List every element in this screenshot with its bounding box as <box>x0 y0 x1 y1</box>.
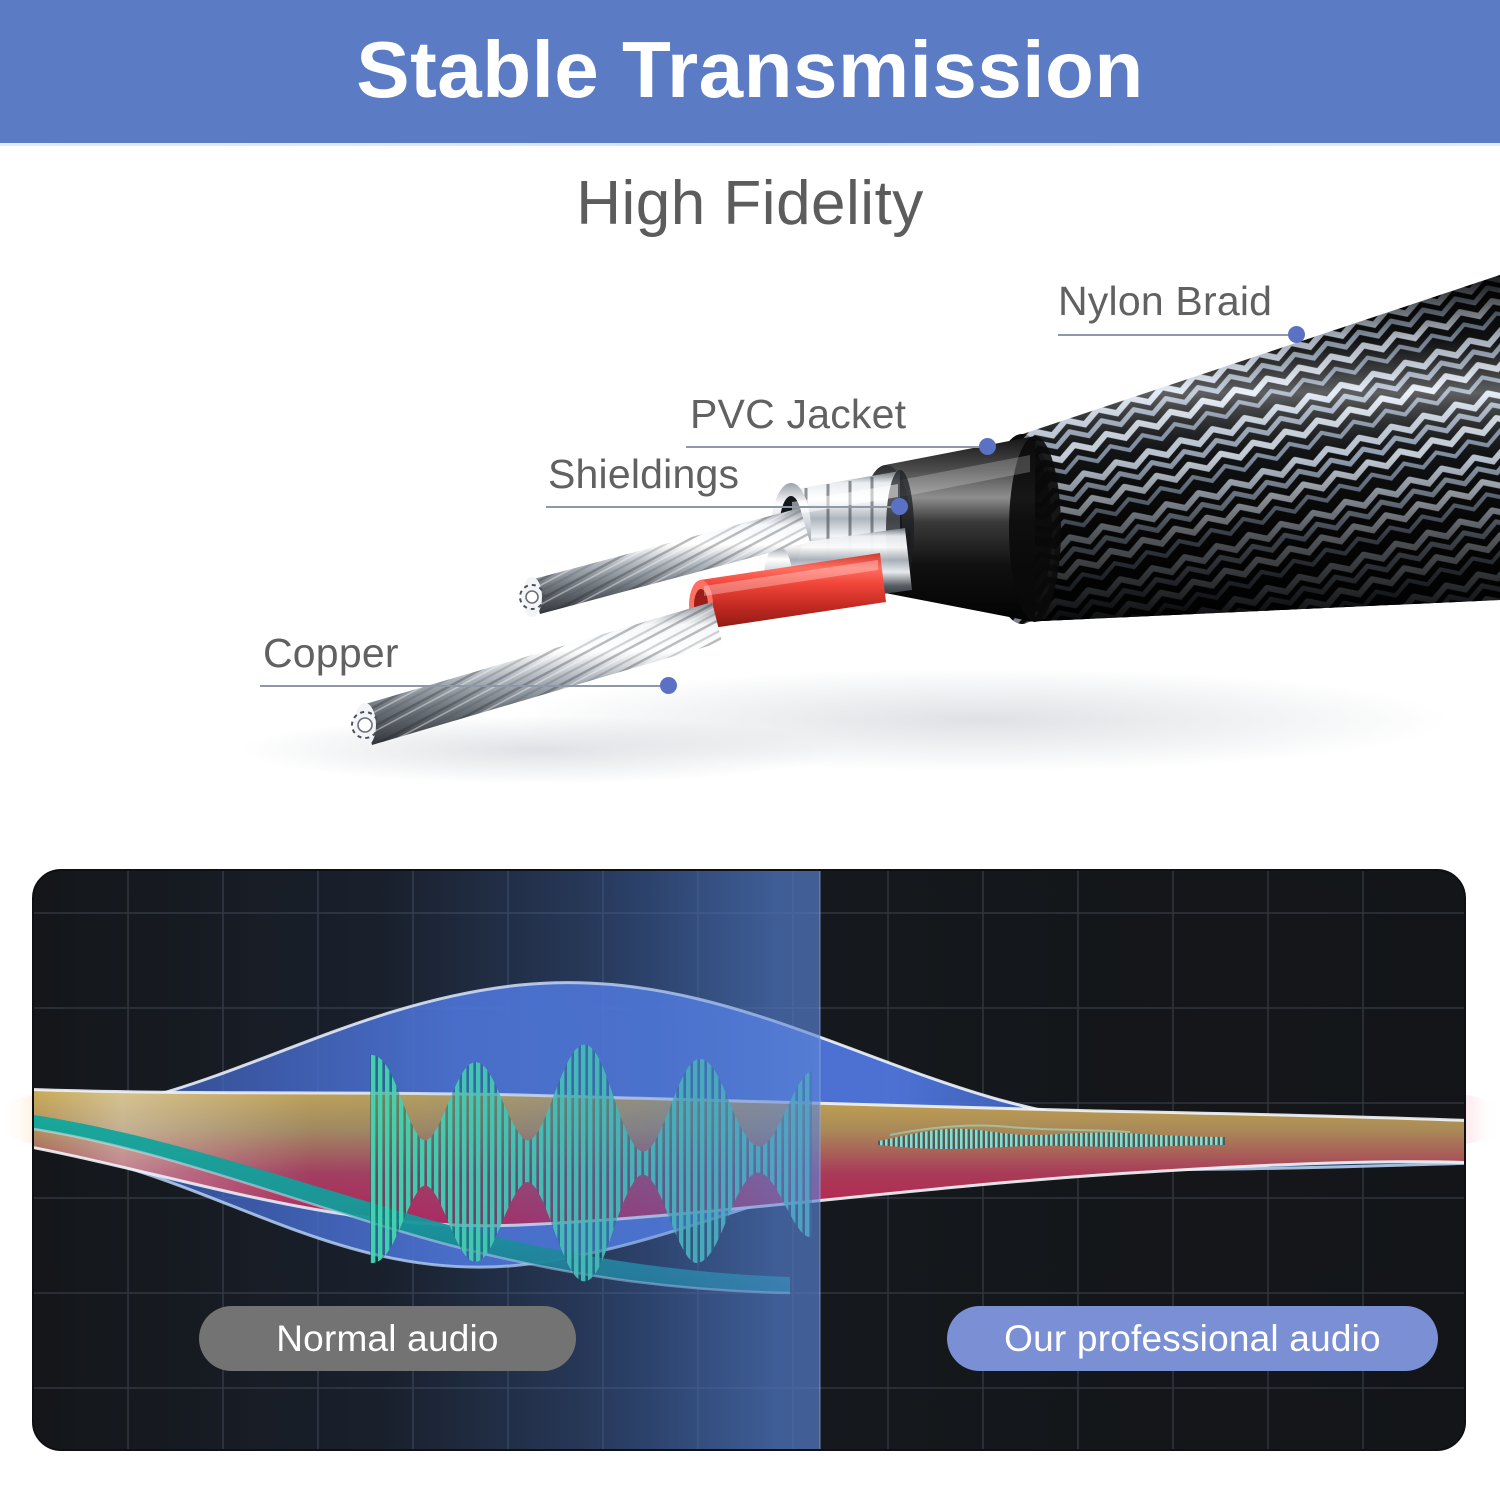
callout-dot-copper <box>660 677 677 694</box>
callout-leader-pvc-jacket <box>686 446 988 448</box>
callout-label-shieldings: Shieldings <box>548 451 739 498</box>
wire-shadow <box>240 716 840 784</box>
callout-dot-shieldings <box>891 498 908 515</box>
page-title: Stable Transmission <box>356 30 1144 110</box>
professional-audio-label-pill: Our professional audio <box>947 1306 1438 1371</box>
normal-audio-label-text: Normal audio <box>276 1318 498 1360</box>
header-banner: Stable Transmission <box>0 0 1500 143</box>
banner-underline-divider <box>0 143 1500 146</box>
callout-leader-copper <box>260 685 669 687</box>
professional-audio-label-text: Our professional audio <box>1004 1318 1381 1360</box>
callout-label-pvc-jacket: PVC Jacket <box>690 391 906 438</box>
audio-comparison-panel <box>0 845 1500 1485</box>
normal-audio-label-pill: Normal audio <box>199 1306 576 1371</box>
subtitle: High Fidelity <box>0 168 1500 239</box>
callout-label-nylon-braid: Nylon Braid <box>1058 278 1272 325</box>
callout-leader-shieldings <box>546 506 900 508</box>
nylon-braid-layer <box>988 275 1500 624</box>
callout-dot-pvc-jacket <box>979 438 996 455</box>
callout-label-copper: Copper <box>263 630 399 677</box>
callout-dot-nylon-braid <box>1288 326 1305 343</box>
cable-cutaway-illustration <box>0 250 1500 850</box>
callout-leader-nylon-braid <box>1058 334 1296 336</box>
